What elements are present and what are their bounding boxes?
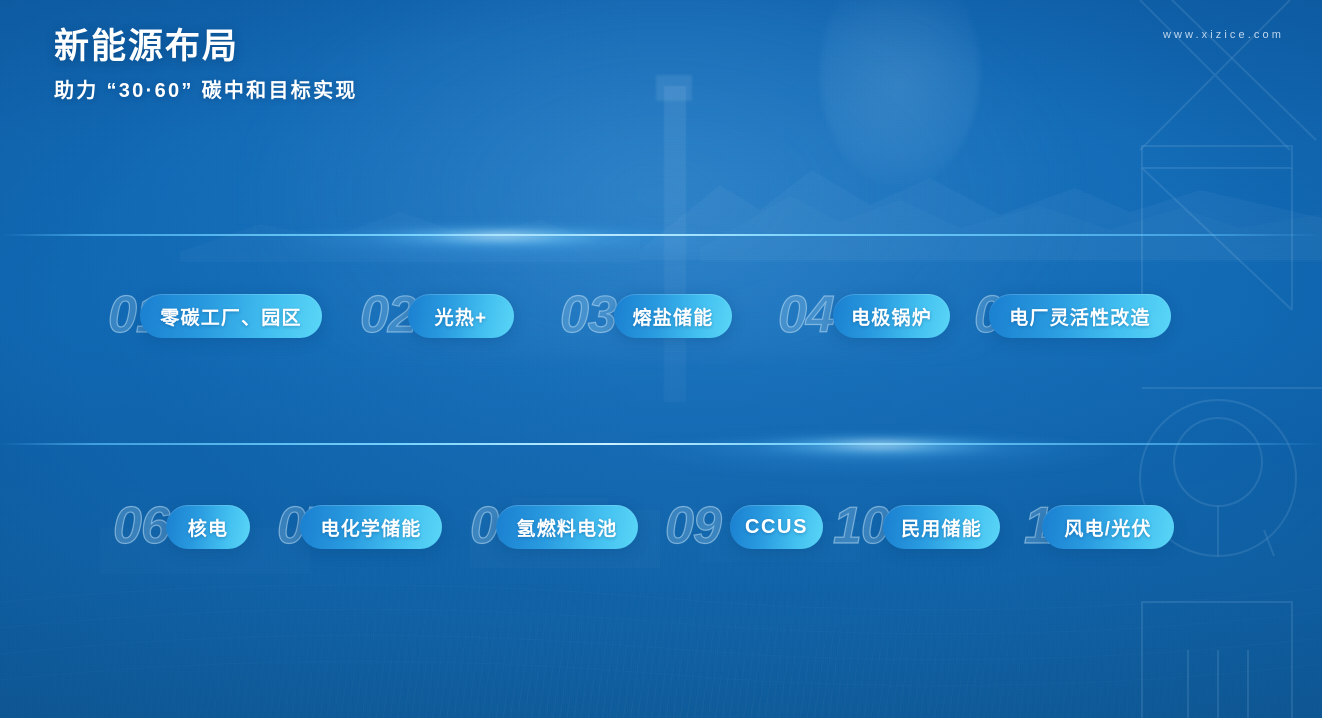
vignette-overlay: [0, 0, 1322, 718]
page-title: 新能源布局: [54, 26, 358, 69]
watermark-letterforms: [1078, 0, 1322, 718]
header: 新能源布局 助力 “30·60” 碳中和目标实现: [54, 26, 358, 104]
slide-canvas: 新能源布局 助力 “30·60” 碳中和目标实现 www.xizice.com …: [0, 0, 1322, 718]
divider-line-bottom: [0, 443, 1322, 445]
category-row-1: 01零碳工厂、园区02光热+03熔盐储能04电极锅炉05电厂灵活性改造: [0, 280, 1322, 352]
site-url-watermark: www.xizice.com: [1163, 29, 1284, 41]
category-pill[interactable]: 电厂灵活性改造: [989, 294, 1171, 338]
category-label: 风电/光伏: [1064, 514, 1151, 541]
category-pill[interactable]: 风电/光伏: [1042, 505, 1174, 549]
page-subtitle: 助力 “30·60” 碳中和目标实现: [54, 78, 358, 104]
divider-core: [0, 443, 1322, 445]
divider-halo: [280, 221, 720, 251]
category-item[interactable]: 05电厂灵活性改造: [0, 280, 1322, 352]
category-row-2: 06核电07电化学储能08氢燃料电池09CCUS10民用储能11风电/光伏: [0, 491, 1322, 563]
category-label: 电厂灵活性改造: [1009, 303, 1150, 330]
divider-line-top: [0, 234, 1322, 236]
sun-disc: [820, 0, 980, 187]
background-imagery: [0, 0, 1322, 718]
mountain-range: [0, 0, 1322, 718]
category-item[interactable]: 11风电/光伏: [0, 491, 1322, 563]
grain-texture: [0, 0, 1322, 718]
solar-tower-cap: [656, 75, 692, 101]
divider-halo: [670, 430, 1090, 460]
